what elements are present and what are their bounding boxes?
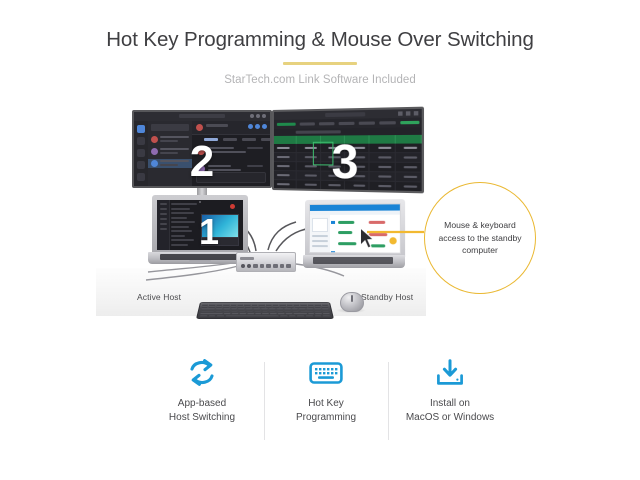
laptop-active-keyboard[interactable] — [160, 254, 240, 260]
app-canvas — [330, 215, 400, 253]
app-sidebar[interactable] — [310, 215, 331, 252]
title-underline-rule — [283, 62, 357, 65]
feature-row: App-based Host Switching Ho — [140, 356, 512, 448]
webcam-icon — [199, 201, 201, 203]
record-indicator-icon — [230, 204, 235, 209]
spreadsheet-filename — [325, 112, 365, 117]
row-marker — [331, 221, 335, 224]
label-standby-host: Standby Host — [361, 292, 413, 302]
feature-install-on-macos-or-windows: Install on MacOS or Windows — [388, 356, 512, 448]
tag-pill — [338, 221, 354, 224]
monitor-left: 2 — [132, 110, 272, 188]
page-subtitle: StarTech.com Link Software Included — [0, 74, 640, 86]
laptop-standby-screen — [309, 203, 401, 253]
monitor-right-bezel: 3 — [272, 107, 424, 194]
conversation-actions[interactable] — [248, 124, 267, 129]
product-infographic: Hot Key Programming & Mouse Over Switchi… — [0, 0, 640, 480]
callout-anchor-dot — [389, 237, 396, 244]
keyboard[interactable] — [196, 302, 334, 319]
screen-number-1: 1 — [187, 214, 231, 250]
window-controls[interactable] — [250, 114, 266, 118]
feature-label: Hot Key Programming — [296, 397, 356, 425]
tag-pill — [338, 242, 356, 245]
page-title: Hot Key Programming & Mouse Over Switchi… — [0, 27, 640, 53]
download-tray-icon — [434, 356, 466, 390]
tag-pill — [338, 231, 352, 234]
laptop-active-screen: 1 — [157, 200, 243, 250]
laptop-active-lid: 1 — [152, 195, 248, 253]
hardware-scene: 2 — [0, 100, 640, 332]
callout-bubble: Mouse & keyboard access to the standby c… — [424, 182, 536, 294]
sync-arrows-icon — [187, 356, 217, 390]
laptop-standby-lid — [305, 199, 405, 257]
row-marker — [331, 251, 335, 254]
feature-label: App-based Host Switching — [169, 397, 235, 425]
dock-brand-label — [240, 257, 254, 260]
laptop-standby-keyboard[interactable] — [313, 257, 393, 264]
avatar — [196, 124, 203, 131]
callout-text: Mouse & keyboard access to the standby c… — [425, 219, 535, 258]
tag-pill — [338, 252, 354, 253]
feature-label: Install on MacOS or Windows — [406, 397, 494, 425]
feature-hot-key-programming: Hot Key Programming — [264, 356, 388, 448]
conversation-title — [206, 124, 228, 127]
screen-number-3: 3 — [274, 137, 422, 187]
conversation-header — [192, 121, 270, 135]
monitor-right: 3 — [272, 107, 424, 194]
chat-app-title-placeholder — [179, 114, 225, 118]
chat-search-placeholder — [151, 124, 189, 131]
window-controls[interactable] — [398, 111, 418, 116]
mouse[interactable] — [340, 292, 364, 312]
label-active-host: Active Host — [137, 292, 181, 302]
keyboard-icon — [309, 356, 343, 390]
dock-chassis — [236, 252, 296, 272]
screen-number-2: 2 — [134, 140, 270, 184]
monitor-right-screen: 3 — [274, 109, 422, 191]
tag-pill — [369, 221, 386, 224]
sidebar-card — [312, 218, 328, 232]
app-sidebar[interactable] — [157, 200, 170, 250]
monitor-left-screen: 2 — [134, 112, 270, 186]
docking-station — [236, 252, 296, 272]
mouse-cursor-icon — [358, 227, 374, 249]
header: Hot Key Programming & Mouse Over Switchi… — [0, 27, 640, 86]
laptop-active-trackpad[interactable] — [189, 260, 211, 263]
dock-ports[interactable] — [241, 264, 291, 268]
laptop-standby-base — [303, 255, 405, 268]
feature-app-based-host-switching: App-based Host Switching — [140, 356, 264, 448]
laptop-standby-host — [303, 200, 405, 276]
